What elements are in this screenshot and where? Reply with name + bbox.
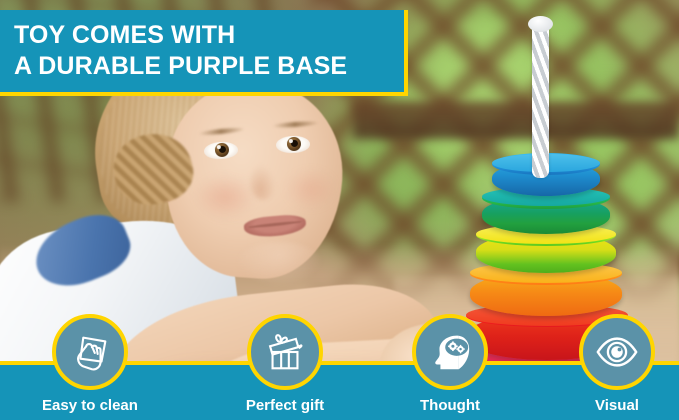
feature-label-2: Perfect gift: [215, 397, 355, 414]
head-with-gears-icon: [427, 329, 473, 375]
toy-rod-tip: [528, 16, 553, 32]
feature-icon-circle-1: [52, 314, 128, 390]
headline-line-2: A DURABLE PURPLE BASE: [14, 51, 404, 82]
nose: [250, 164, 276, 200]
feature-perfect-gift: Perfect gift: [215, 314, 355, 414]
feature-icon-circle-4: [579, 314, 655, 390]
toy-ring-yellow-green: [476, 233, 616, 273]
gift-box-icon: [262, 329, 308, 375]
eye-icon: [594, 329, 640, 375]
feature-visual: Visual: [547, 314, 679, 414]
feature-label-4: Visual: [547, 397, 679, 414]
feature-icon-circle-3: [412, 314, 488, 390]
promo-banner-image: TOY COMES WITH A DURABLE PURPLE BASE Eas…: [0, 0, 679, 420]
feature-label-1: Easy to clean: [20, 397, 160, 414]
feature-label-3: Thought: [380, 397, 520, 414]
cheek-left: [194, 174, 256, 220]
cleaning-cloth-icon: [67, 329, 113, 375]
headline-banner: TOY COMES WITH A DURABLE PURPLE BASE: [0, 10, 408, 96]
cheek-right: [284, 168, 338, 210]
feature-list: Easy to clean Perfect gift: [0, 295, 679, 420]
toy-ring-teal-green: [482, 196, 610, 234]
headline-line-1: TOY COMES WITH: [14, 20, 404, 51]
chin: [236, 242, 322, 286]
feature-easy-to-clean: Easy to clean: [20, 314, 160, 414]
toy-spiral-rod: [532, 22, 549, 178]
feature-thought: Thought: [380, 314, 520, 414]
feature-icon-circle-2: [247, 314, 323, 390]
stacking-toy: [470, 22, 660, 342]
